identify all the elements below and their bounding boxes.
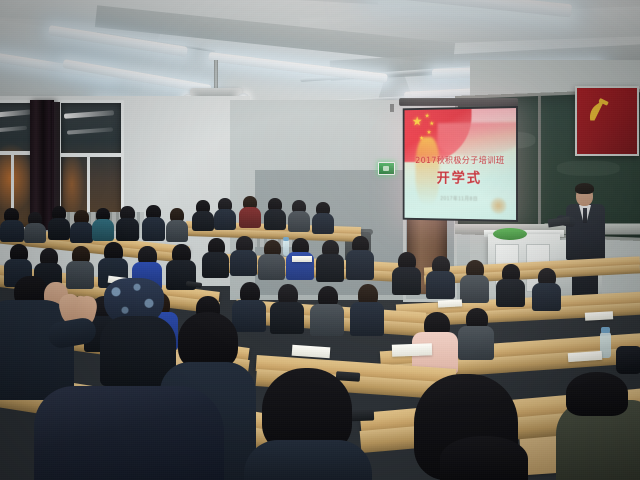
audience-torso [532, 283, 561, 311]
slide-title: 2017秋积极分子培训班 [405, 154, 516, 166]
audience-torso [0, 220, 24, 242]
slide-ribbon-graphic [438, 122, 518, 156]
audience-torso [202, 252, 229, 278]
notebook [292, 345, 331, 359]
audience-torso [70, 222, 93, 243]
audience-torso [214, 209, 236, 230]
audience-torso [66, 261, 94, 289]
audience-torso [166, 220, 188, 242]
audience-torso [192, 211, 214, 231]
star-icon: ★ [412, 117, 423, 126]
audience-torso [258, 254, 285, 280]
notebook [585, 311, 613, 320]
audience-torso [232, 300, 266, 332]
desk-pad [493, 228, 527, 240]
screen-bracket [390, 104, 394, 112]
audience-torso [392, 267, 421, 295]
audience-torso [496, 279, 525, 307]
star-icon: ★ [429, 120, 434, 129]
audience-torso [264, 209, 286, 230]
star-icon: ★ [427, 129, 432, 138]
audience-torso [142, 217, 165, 241]
slide-subtitle: 开学式 [405, 168, 516, 188]
audience-torso [458, 326, 494, 360]
audience-torso [230, 250, 257, 276]
audience-torso [270, 302, 304, 334]
slide-logo [491, 198, 507, 214]
notebook [292, 256, 312, 262]
notebook [392, 343, 432, 356]
audience-torso [426, 271, 455, 299]
hammer-and-sickle-icon [585, 98, 613, 124]
window-curtain [30, 100, 54, 230]
audience-torso [350, 302, 384, 336]
projection-screen: ★ ★ ★ ★ ★ 2017秋积极分子培训班 开学式 2017年11月8日 [403, 106, 518, 222]
notebook [438, 299, 462, 307]
foreground-torso [244, 440, 372, 480]
audience-torso [116, 218, 139, 241]
party-flag [575, 86, 639, 156]
audience-torso [312, 213, 334, 234]
audience-torso [460, 275, 489, 303]
star-icon: ★ [419, 135, 424, 144]
lecture-hall-photo: ★ ★ ★ ★ ★ 2017秋积极分子培训班 开学式 2017年11月8日 [0, 0, 640, 480]
foreground-head [440, 436, 528, 480]
bottle-cap [283, 237, 289, 241]
audience-torso [24, 223, 46, 243]
audience-torso [310, 304, 344, 336]
projector-mount-pole [214, 60, 218, 90]
audience-torso [239, 207, 261, 228]
water-bottle [283, 240, 289, 256]
exit-sign-icon [378, 162, 395, 175]
speaker-tie [583, 208, 587, 223]
foreground-head [566, 372, 628, 416]
audience-torso [92, 219, 114, 241]
audience-torso [316, 254, 344, 282]
blackboard-divider [538, 96, 541, 228]
backpack [616, 346, 640, 374]
speaker-hair [575, 183, 594, 194]
audience-torso [48, 218, 70, 240]
audience-torso [346, 250, 374, 280]
projection-screen-case [399, 98, 518, 106]
audience-torso [288, 211, 310, 232]
jacket-on-desk [34, 386, 224, 480]
bottle-cap [601, 327, 610, 333]
